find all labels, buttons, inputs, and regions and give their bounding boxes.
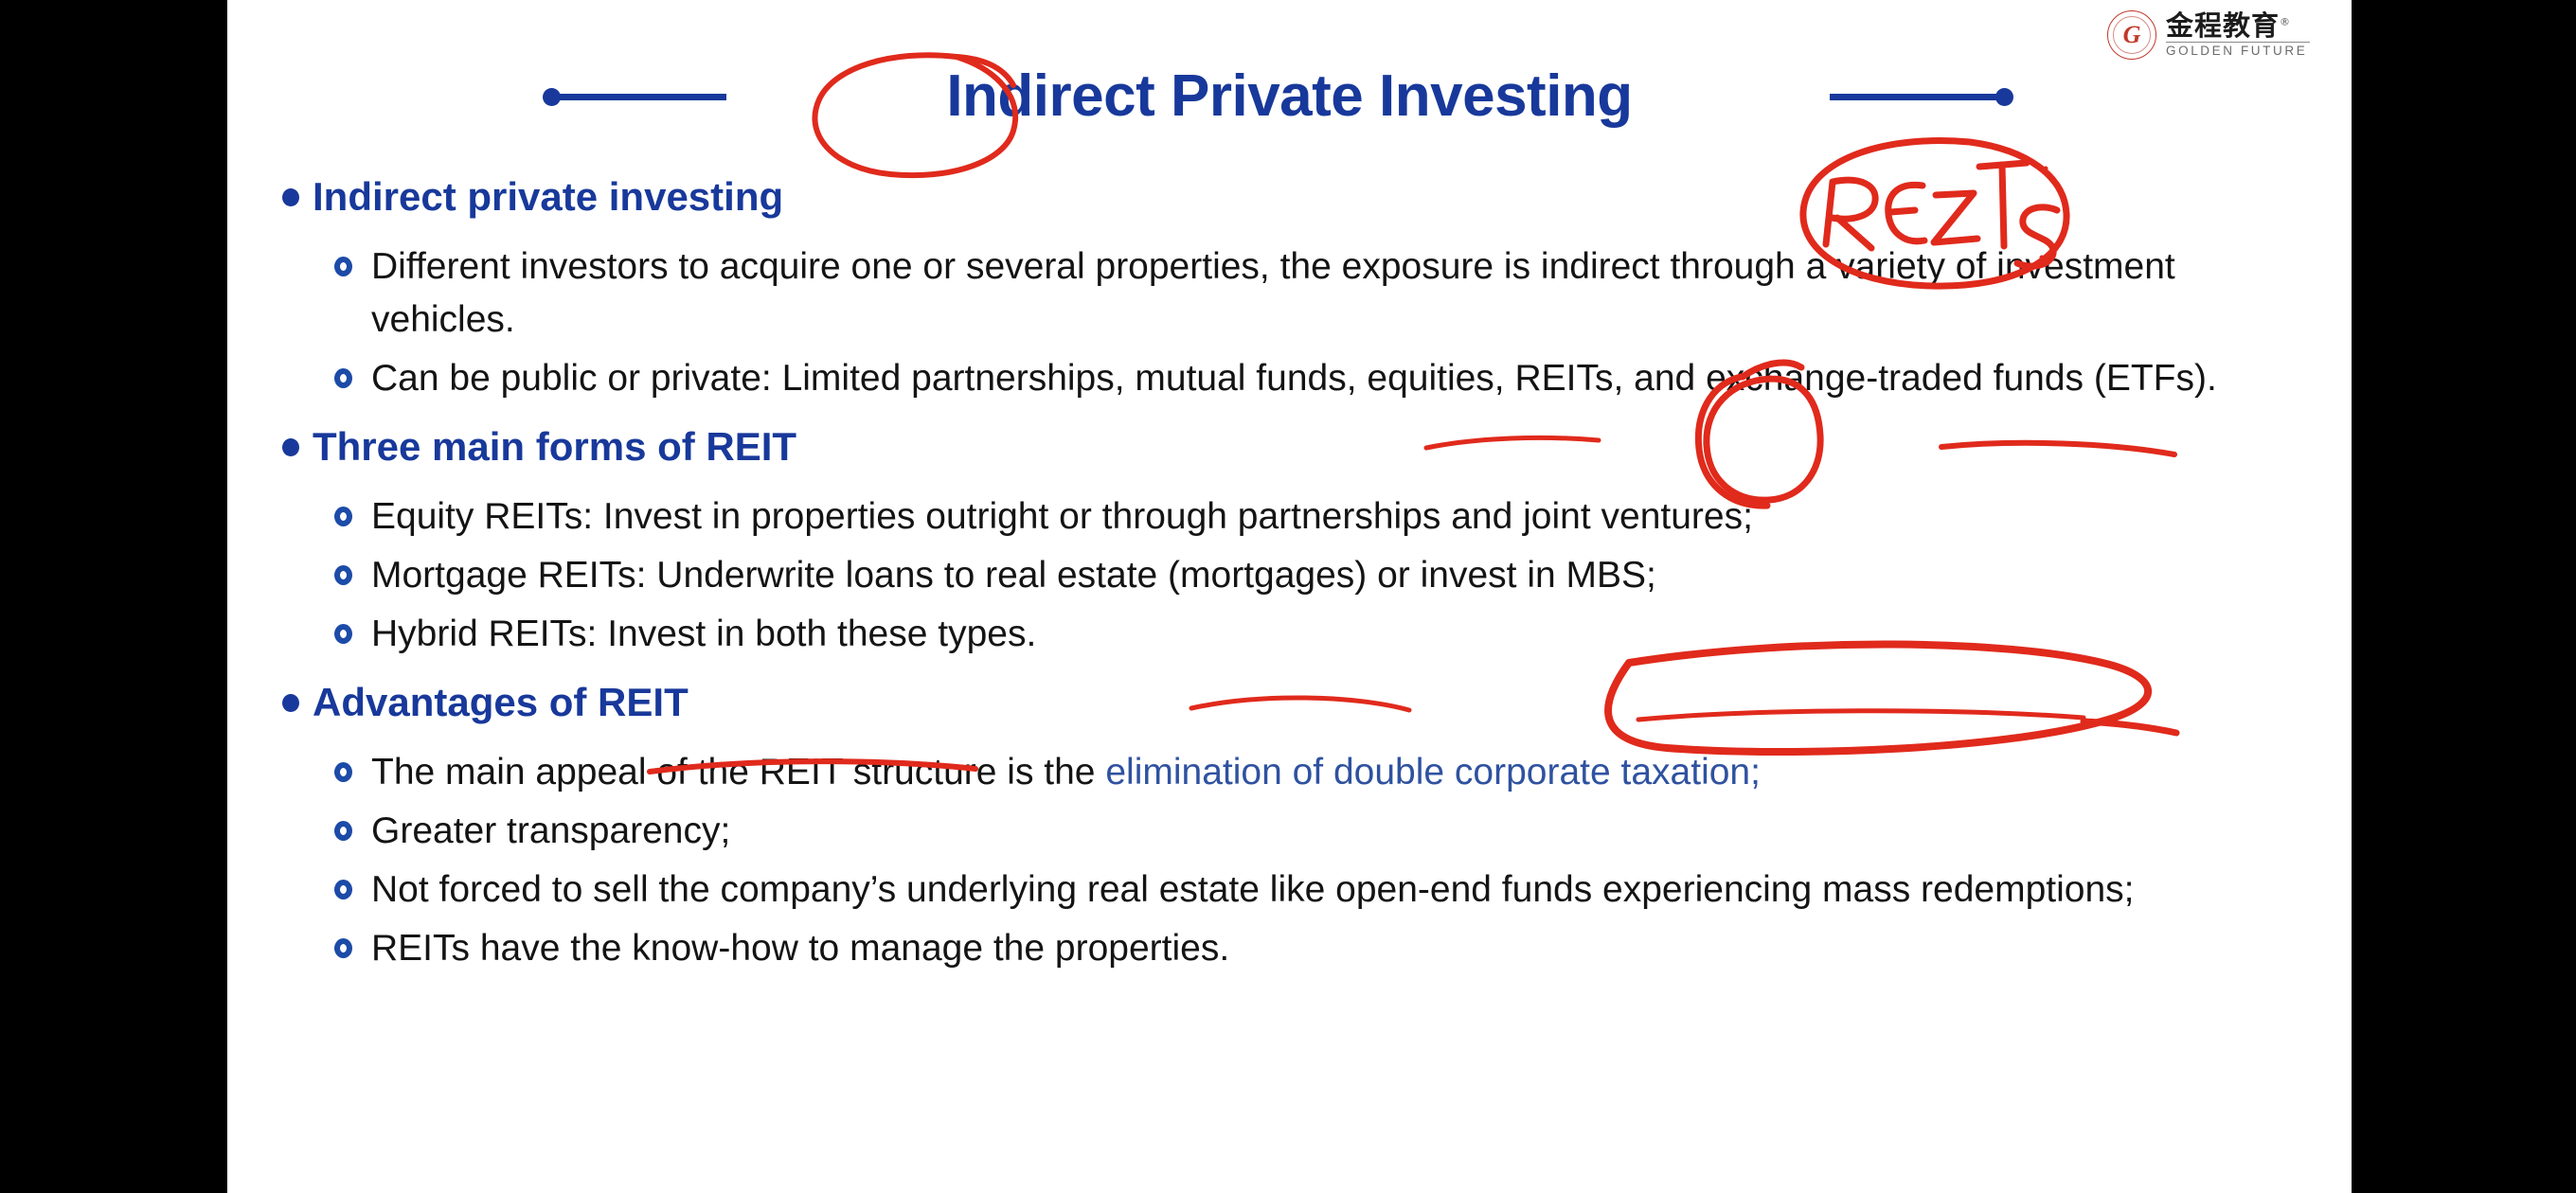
list-item-text: Different investors to acquire one or se… [371, 246, 2175, 340]
logo-chinese-name: 金程教育® [2166, 12, 2310, 40]
list-item: Can be public or private: Limited partne… [227, 352, 2352, 405]
logo-mark-letter: G [2107, 10, 2156, 60]
logo-english-name: GOLDEN FUTURE [2166, 45, 2310, 58]
section-heading-1: Indirect private investing [227, 170, 2352, 223]
slide-canvas: G 金程教育® GOLDEN FUTURE Indirect Private I… [227, 0, 2352, 1193]
section-heading-2: Three main forms of REIT [227, 420, 2352, 473]
list-item-text: The main appeal of the REIT structure is… [371, 752, 1105, 792]
list-item: Greater transparency; [227, 805, 2352, 858]
bullet-filled-icon [282, 438, 299, 456]
bullet-hollow-icon [334, 507, 352, 526]
bullet-filled-icon [282, 188, 299, 206]
logo-divider [2166, 42, 2310, 43]
brand-logo: G 金程教育® GOLDEN FUTURE [2107, 6, 2339, 64]
list-item: Different investors to acquire one or se… [227, 240, 2352, 347]
section-heading-1-label: Indirect private investing [313, 174, 783, 219]
list-item: Hybrid REITs: Invest in both these types… [227, 608, 2352, 661]
list-item: The main appeal of the REIT structure is… [227, 746, 2352, 799]
bullet-hollow-icon [334, 624, 352, 644]
logo-seal-icon: G [2107, 10, 2156, 60]
bullet-filled-icon [282, 694, 299, 712]
list-item: REITs have the know-how to manage the pr… [227, 922, 2352, 975]
title-row: Indirect Private Investing [227, 59, 2352, 134]
section-heading-3-label: Advantages of REIT [313, 680, 689, 724]
bullet-hollow-icon [334, 880, 352, 899]
section-heading-2-label: Three main forms of REIT [313, 424, 796, 469]
list-item-text: REITs have the know-how to manage the pr… [371, 928, 1229, 969]
logo-wordmark: 金程教育® GOLDEN FUTURE [2166, 12, 2310, 58]
registered-mark: ® [2280, 16, 2291, 28]
list-item: Equity REITs: Invest in properties outri… [227, 490, 2352, 543]
list-item: Not forced to sell the company’s underly… [227, 864, 2352, 917]
bullet-hollow-icon [334, 821, 352, 841]
list-item: Mortgage REITs: Underwrite loans to real… [227, 549, 2352, 602]
letterbox-bar-right [2352, 0, 2576, 1193]
bullet-hollow-icon [334, 762, 352, 782]
section-heading-3: Advantages of REIT [227, 676, 2352, 729]
list-item-text: Can be public or private: Limited partne… [371, 358, 2217, 399]
page-title: Indirect Private Investing [227, 59, 2352, 134]
bullet-hollow-icon [334, 938, 352, 958]
list-item-text: Not forced to sell the company’s underly… [371, 869, 2135, 910]
list-item-accent-text: elimination of double corporate taxation… [1105, 752, 1761, 792]
bullet-hollow-icon [334, 368, 352, 388]
letterbox-bar-left [0, 0, 227, 1193]
list-item-text: Greater transparency; [371, 810, 730, 851]
title-decoration-right [1830, 93, 2010, 100]
bullet-hollow-icon [334, 565, 352, 585]
slide-content: Indirect private investing Different inv… [227, 170, 2352, 981]
list-item-text: Mortgage REITs: Underwrite loans to real… [371, 555, 1656, 596]
list-item-text: Equity REITs: Invest in properties outri… [371, 496, 1753, 537]
bullet-hollow-icon [334, 257, 352, 276]
list-item-text: Hybrid REITs: Invest in both these types… [371, 614, 1036, 654]
screenshot-stage: G 金程教育® GOLDEN FUTURE Indirect Private I… [0, 0, 2576, 1193]
